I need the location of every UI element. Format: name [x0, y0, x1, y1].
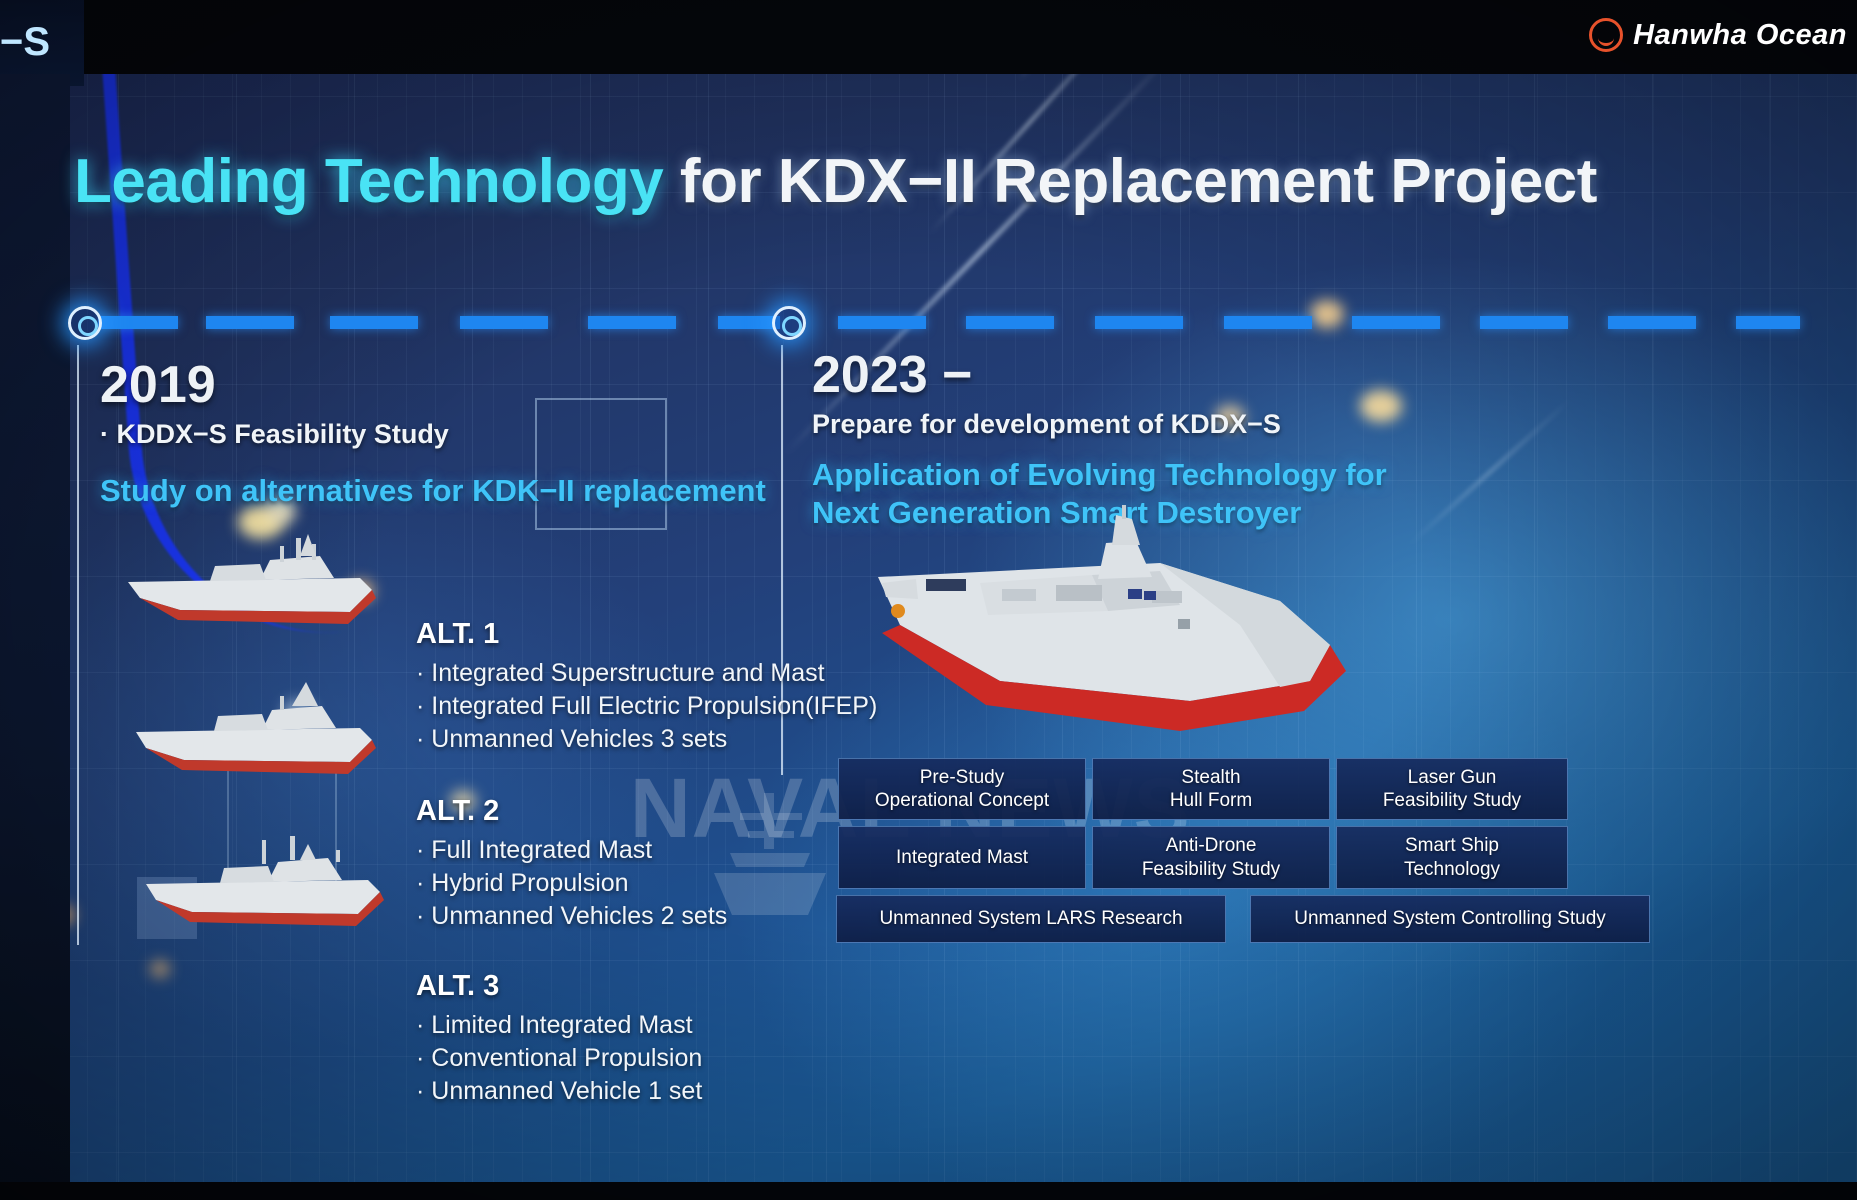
capability-box-row: Pre-Study Operational Concept Stealth Hu… — [838, 758, 1568, 820]
milestone-2023-headline-1: Application of Evolving Technology for — [812, 456, 1387, 495]
capability-box-row: Unmanned System LARS Research Unmanned S… — [836, 895, 1568, 943]
milestone-2019-bullet: · KDDX−S Feasibility Study — [100, 419, 766, 450]
alt-3-item: · Conventional Propulsion — [416, 1042, 702, 1075]
page-title: Leading Technology for KDX−II Replacemen… — [74, 146, 1597, 217]
capability-box[interactable]: Laser Gun Feasibility Study — [1336, 758, 1568, 820]
ship-render-alt2 — [130, 672, 380, 792]
timeline-dash — [1608, 316, 1696, 329]
bokeh-9 — [150, 960, 170, 978]
presentation-slide: NAVAL NEWS Leading Technology for KDX−II… — [0, 0, 1857, 1200]
timeline-dash — [718, 316, 780, 329]
milestone-2019-year: 2019 — [100, 358, 766, 413]
alt-2-item: · Full Integrated Mast — [416, 834, 727, 867]
kddx-destroyer-render — [860, 505, 1380, 765]
timeline-dash — [1480, 316, 1568, 329]
hanwha-ocean-logo: Hanwha Ocean — [1589, 18, 1847, 52]
capability-box[interactable]: Integrated Mast — [838, 826, 1086, 888]
alt-1-title: ALT. 1 — [416, 618, 877, 651]
alt-1-item: · Integrated Full Electric Propulsion(IF… — [416, 690, 877, 723]
timeline-dash — [1095, 316, 1183, 329]
letterbox-left — [0, 74, 70, 1184]
alt-2-block: ALT. 2 · Full Integrated Mast · Hybrid P… — [416, 795, 727, 933]
timeline-dash — [1224, 316, 1312, 329]
capability-box-row: Integrated Mast Anti-Drone Feasibility S… — [838, 826, 1568, 888]
alt-3-title: ALT. 3 — [416, 970, 702, 1003]
timeline-dash — [966, 316, 1054, 329]
timeline-dash — [588, 316, 676, 329]
alt-1-item: · Unmanned Vehicles 3 sets — [416, 723, 877, 756]
timeline-dash — [1736, 316, 1800, 329]
alt-2-title: ALT. 2 — [416, 795, 727, 828]
alt-3-item: · Unmanned Vehicle 1 set — [416, 1075, 702, 1108]
alt-1-item: · Integrated Superstructure and Mast — [416, 657, 877, 690]
milestone-2023-year: 2023 − — [812, 348, 1387, 403]
page-title-highlight: Leading Technology — [74, 147, 663, 216]
timeline-node-2023[interactable] — [772, 306, 806, 340]
timeline-dash — [98, 316, 178, 329]
timeline-dash — [330, 316, 418, 329]
timeline-node-2019[interactable] — [68, 306, 102, 340]
timeline-dash — [838, 316, 926, 329]
milestone-2019: 2019 · KDDX−S Feasibility Study Study on… — [100, 358, 766, 510]
alt-3-block: ALT. 3 · Limited Integrated Mast · Conve… — [416, 970, 702, 1108]
timeline-stem-2019 — [77, 345, 79, 945]
timeline-dash — [206, 316, 294, 329]
capability-box[interactable]: Smart Ship Technology — [1336, 826, 1568, 888]
edge-text-fragment: −S — [0, 20, 50, 65]
capability-box[interactable]: Unmanned System Controlling Study — [1250, 895, 1650, 943]
capability-box[interactable]: Stealth Hull Form — [1092, 758, 1330, 820]
alt-1-block: ALT. 1 · Integrated Superstructure and M… — [416, 618, 877, 756]
alt-3-item: · Limited Integrated Mast — [416, 1009, 702, 1042]
timeline-dash — [1352, 316, 1440, 329]
capability-box[interactable]: Pre-Study Operational Concept — [838, 758, 1086, 820]
alt-2-item: · Hybrid Propulsion — [416, 867, 727, 900]
ship-render-alt3 — [140, 822, 390, 942]
light-streak-4 — [1407, 397, 1573, 547]
hanwha-ocean-logo-text: Hanwha Ocean — [1633, 19, 1847, 52]
page-title-rest: for KDX−II Replacement Project — [663, 147, 1597, 216]
capability-box-grid: Pre-Study Operational Concept Stealth Hu… — [838, 758, 1568, 949]
timeline-dash — [460, 316, 548, 329]
letterbox-top — [0, 0, 1857, 74]
milestone-2019-headline: Study on alternatives for KDK−II replace… — [100, 472, 766, 511]
capability-box[interactable]: Anti-Drone Feasibility Study — [1092, 826, 1330, 888]
letterbox-bottom — [0, 1182, 1857, 1200]
milestone-2023-bullet: Prepare for development of KDDX−S — [812, 409, 1387, 440]
timeline — [60, 312, 1800, 334]
capability-box[interactable]: Unmanned System LARS Research — [836, 895, 1226, 943]
hanwha-circle-icon — [1589, 18, 1623, 52]
alt-2-item: · Unmanned Vehicles 2 sets — [416, 900, 727, 933]
ship-render-alt1 — [120, 520, 380, 640]
